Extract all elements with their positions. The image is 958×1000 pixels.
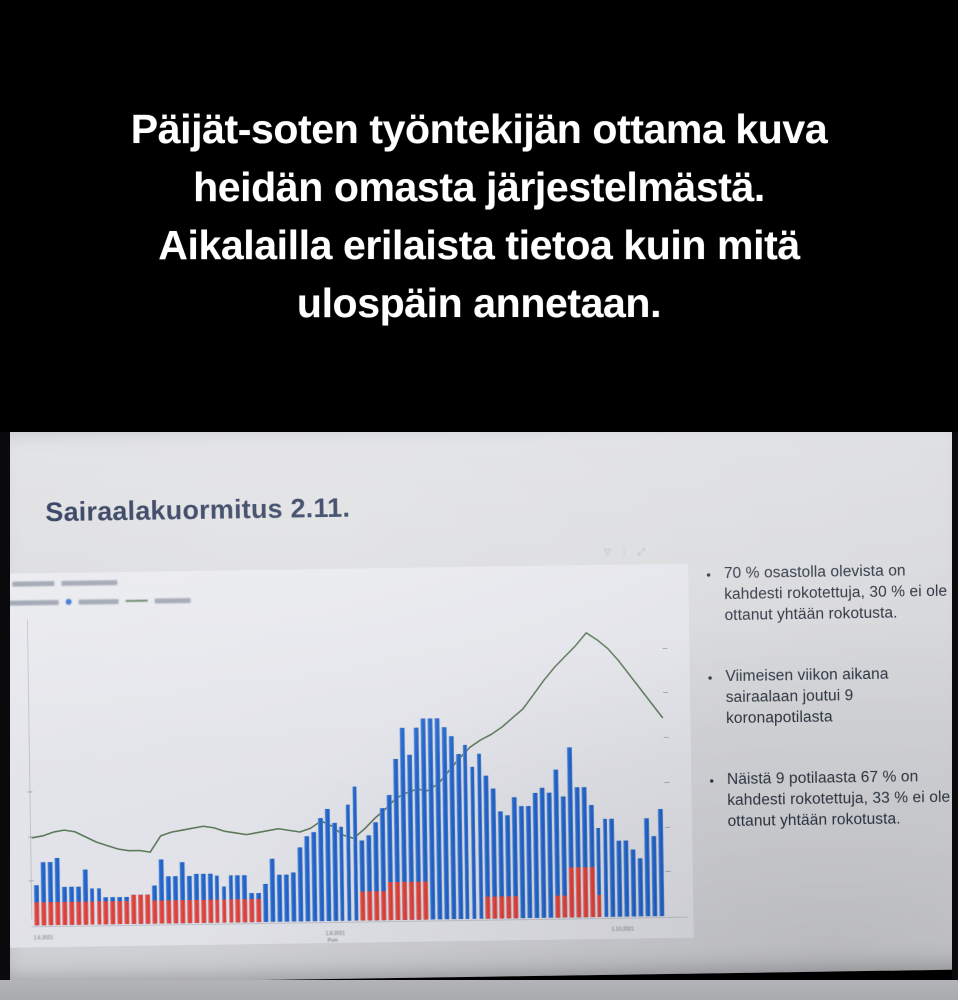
bar[interactable] — [40, 863, 46, 926]
caption-band: Päijät-soten työntekijän ottama kuva hei… — [0, 0, 958, 432]
bar-unvaccinated-segment — [416, 882, 421, 920]
bar-unvaccinated-segment — [215, 899, 220, 922]
bar-unvaccinated-segment — [256, 899, 261, 922]
bar[interactable] — [193, 874, 199, 923]
bottom-strip — [0, 980, 958, 1000]
bar[interactable] — [277, 874, 283, 921]
bar[interactable] — [249, 893, 254, 922]
bar[interactable] — [90, 889, 95, 925]
legend-label-bars — [79, 599, 119, 605]
focus-mode-icon[interactable]: ⤢ — [638, 546, 645, 557]
bar-unvaccinated-segment — [402, 882, 407, 920]
bar-unvaccinated-segment — [173, 900, 178, 923]
bar-unvaccinated-segment — [83, 901, 88, 924]
bullet-text-2: Viimeisen viikon aikana sairaalaan joutu… — [725, 663, 958, 729]
bar-unvaccinated-segment — [48, 902, 53, 925]
bar-unvaccinated-segment — [97, 901, 102, 924]
bar-unvaccinated-segment — [194, 900, 199, 923]
bar[interactable] — [152, 886, 157, 924]
photo-edge-right — [952, 424, 958, 1000]
bar-unvaccinated-segment — [568, 867, 574, 917]
bar[interactable] — [173, 876, 179, 923]
bar-unvaccinated-segment — [360, 892, 365, 921]
presentation-slide-photo: Sairaalakuormitus 2.11. ▽ ⋮ ⤢ — [0, 409, 958, 984]
bar[interactable] — [291, 872, 297, 921]
y-tick-right — [663, 692, 668, 693]
bullet-text-3: Näistä 9 potilaasta 67 % on kahdesti rok… — [727, 766, 958, 832]
x-tick-label-1: 1.6.2021 — [34, 935, 54, 941]
bar[interactable] — [54, 858, 60, 925]
legend-swatch-line-icon — [126, 600, 148, 602]
bar[interactable] — [82, 869, 88, 924]
bar[interactable] — [242, 875, 248, 922]
bar-unvaccinated-segment — [492, 896, 497, 918]
bar-unvaccinated-segment — [34, 902, 39, 925]
bar-unvaccinated-segment — [180, 900, 185, 923]
bar-unvaccinated-segment — [236, 899, 241, 922]
bar[interactable] — [138, 894, 143, 924]
plot-area — [29, 612, 665, 925]
bar-unvaccinated-segment — [55, 902, 60, 925]
bar-unvaccinated-segment — [374, 892, 379, 921]
y-tick-right — [662, 648, 667, 649]
bar-unvaccinated-segment — [381, 892, 386, 921]
x-tick-label-3: 1.10.2021 — [612, 926, 634, 932]
bullet-list: • 70 % osastolla olevista on kahdesti ro… — [706, 560, 958, 873]
bar-unvaccinated-segment — [138, 894, 143, 924]
chart-toolbar[interactable]: ▽ ⋮ ⤢ — [604, 546, 645, 558]
list-item: • 70 % osastolla olevista on kahdesti ro… — [706, 560, 958, 627]
chart-legend-tabs[interactable] — [12, 580, 117, 587]
bar[interactable] — [124, 897, 129, 924]
bar[interactable] — [179, 862, 185, 923]
bar[interactable] — [187, 876, 193, 923]
y-tick-right — [664, 737, 669, 738]
y-tick-right — [666, 871, 671, 872]
bar-unvaccinated-segment — [117, 901, 122, 924]
list-item: • Näistä 9 potilaasta 67 % on kahdesti r… — [709, 766, 958, 833]
bar[interactable] — [284, 874, 290, 921]
chart-legend-series — [7, 597, 191, 606]
bar-unvaccinated-segment — [222, 899, 227, 922]
y-tick-right — [665, 827, 670, 828]
bar-unvaccinated-segment — [76, 901, 81, 924]
bar-unvaccinated-segment — [131, 894, 136, 924]
legend-label-axis — [7, 599, 59, 605]
caption-line-1: Päijät-soten työntekijän ottama kuva — [131, 100, 827, 158]
more-options-icon[interactable]: ⋮ — [620, 547, 629, 558]
bar-unvaccinated-segment — [506, 896, 511, 918]
caption-line-2: heidän omasta järjestelmästä. — [193, 158, 765, 216]
bar-unvaccinated-segment — [242, 899, 247, 922]
bar-unvaccinated-segment — [187, 900, 192, 923]
legend-swatch-bar-icon — [66, 599, 72, 605]
bar[interactable] — [263, 883, 268, 922]
bar-unvaccinated-segment — [159, 900, 164, 923]
bar[interactable] — [256, 893, 261, 922]
bar[interactable] — [69, 887, 74, 925]
bar-unvaccinated-segment — [104, 901, 109, 924]
bar[interactable] — [214, 875, 220, 922]
bar[interactable] — [200, 874, 206, 923]
bullet-text-1: 70 % osastolla olevista on kahdesti roko… — [724, 560, 958, 626]
bar-unvaccinated-segment — [409, 882, 414, 920]
bar-unvaccinated-segment — [589, 867, 595, 917]
bar[interactable] — [76, 887, 81, 925]
hospital-load-chart[interactable]: 1.6.2021 1.8.2021 1.10.2021 Pvm — [2, 564, 693, 948]
bar-unvaccinated-segment — [499, 896, 504, 918]
bar-unvaccinated-segment — [124, 901, 129, 924]
bar-unvaccinated-segment — [201, 900, 206, 923]
bar-unvaccinated-segment — [166, 900, 171, 923]
bar-unvaccinated-segment — [575, 867, 581, 917]
bar-unvaccinated-segment — [423, 882, 428, 920]
bar[interactable] — [228, 875, 234, 922]
legend-tab-2[interactable] — [61, 580, 117, 586]
bar[interactable] — [117, 897, 122, 924]
bar-unvaccinated-segment — [513, 896, 518, 918]
bar[interactable] — [270, 859, 276, 922]
bar-unvaccinated-segment — [388, 882, 393, 920]
bar[interactable] — [235, 875, 241, 922]
bar-unvaccinated-segment — [90, 901, 95, 924]
bar-unvaccinated-segment — [395, 882, 400, 920]
bar[interactable] — [221, 887, 226, 923]
bar-unvaccinated-segment — [597, 895, 602, 917]
bar[interactable] — [159, 859, 165, 923]
bar[interactable] — [62, 887, 67, 925]
bar[interactable] — [166, 876, 172, 923]
x-axis-title: Pvm — [328, 938, 338, 944]
list-item: • Viimeisen viikon aikana sairaalaan jou… — [708, 663, 958, 730]
slide-title: Sairaalakuormitus 2.11. — [45, 493, 350, 529]
bar[interactable] — [34, 885, 39, 925]
x-tick-label-2: 1.8.2021 — [326, 931, 346, 937]
caption-line-4: ulospäin annetaan. — [297, 274, 661, 332]
bar[interactable] — [47, 863, 53, 926]
filter-icon[interactable]: ▽ — [604, 547, 611, 558]
bar-unvaccinated-segment — [208, 899, 213, 922]
bar[interactable] — [96, 889, 101, 925]
photo-edge-left — [0, 424, 10, 1000]
bar[interactable] — [207, 874, 213, 923]
bar-unvaccinated-segment — [249, 899, 254, 922]
y-tick-right — [664, 782, 669, 783]
bar-unvaccinated-segment — [145, 894, 150, 924]
bullet-marker-icon: • — [706, 563, 711, 626]
bar-unvaccinated-segment — [62, 902, 67, 925]
bar[interactable] — [631, 849, 637, 916]
bar-unvaccinated-segment — [555, 895, 560, 917]
legend-tab-1[interactable] — [12, 581, 54, 587]
bar-unvaccinated-segment — [229, 899, 234, 922]
legend-label-line — [155, 598, 191, 604]
bar-unvaccinated-segment — [41, 902, 46, 925]
bar[interactable] — [145, 894, 150, 924]
bar-unvaccinated-segment — [562, 895, 567, 917]
bar-unvaccinated-segment — [367, 892, 372, 921]
bar-unvaccinated-segment — [486, 896, 491, 918]
bar[interactable] — [131, 894, 136, 924]
bar-unvaccinated-segment — [111, 901, 116, 924]
bar-unvaccinated-segment — [582, 867, 588, 917]
screenshot-root: Päijät-soten työntekijän ottama kuva hei… — [0, 0, 958, 1000]
y-tick-left — [27, 791, 32, 792]
bar[interactable] — [110, 897, 115, 924]
bar-unvaccinated-segment — [69, 902, 74, 925]
y-tick-left — [29, 881, 34, 882]
bullet-marker-icon: • — [708, 666, 713, 729]
bar[interactable] — [104, 897, 109, 924]
bar-unvaccinated-segment — [152, 900, 157, 923]
caption-line-3: Aikalailla erilaista tietoa kuin mitä — [158, 216, 799, 274]
bar[interactable] — [638, 858, 644, 916]
y-tick-left — [28, 836, 33, 837]
bullet-marker-icon: • — [709, 769, 714, 832]
